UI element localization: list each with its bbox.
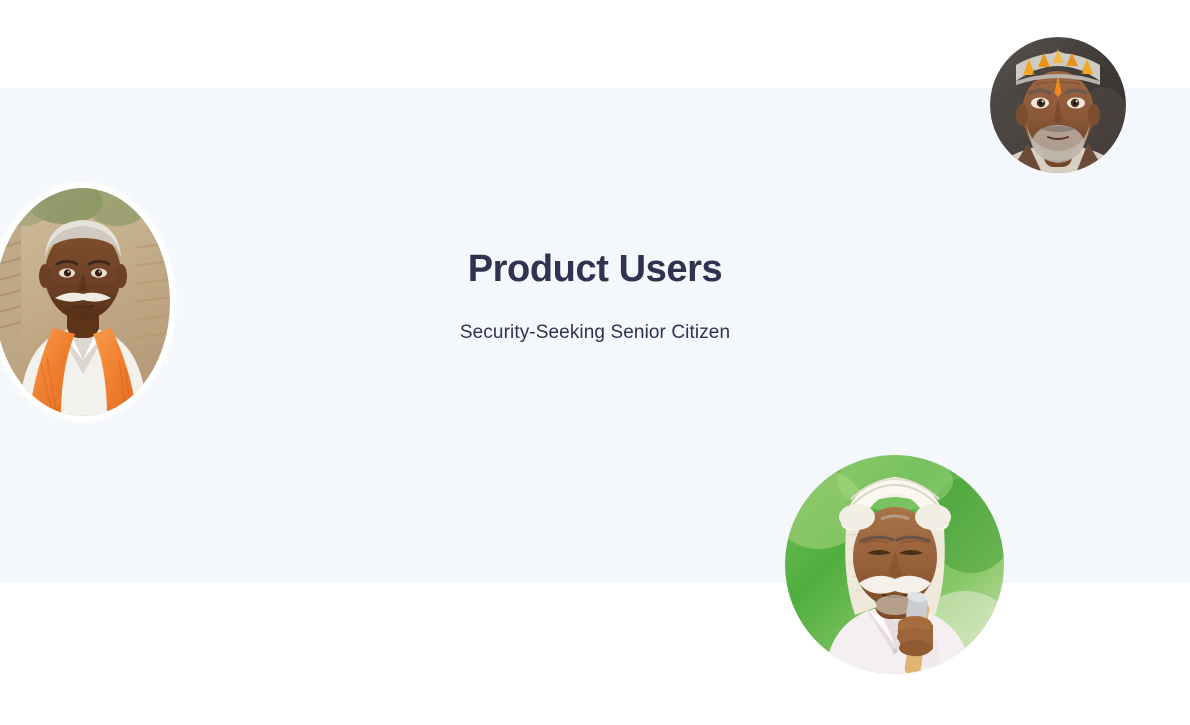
avatar-left-image: [0, 188, 170, 416]
product-users-slide: Product Users Security-Seeking Senior Ci…: [0, 0, 1190, 725]
avatar-senior-man-orange-shawl: [0, 188, 170, 416]
avatar-bottom-center-image: [785, 455, 1004, 674]
avatar-senior-man-white-turban: [785, 455, 1004, 674]
avatar-top-right-image: [990, 37, 1126, 173]
avatar-senior-man-orange-headwrap: [990, 37, 1126, 173]
hero-background-panel: [0, 88, 1190, 583]
